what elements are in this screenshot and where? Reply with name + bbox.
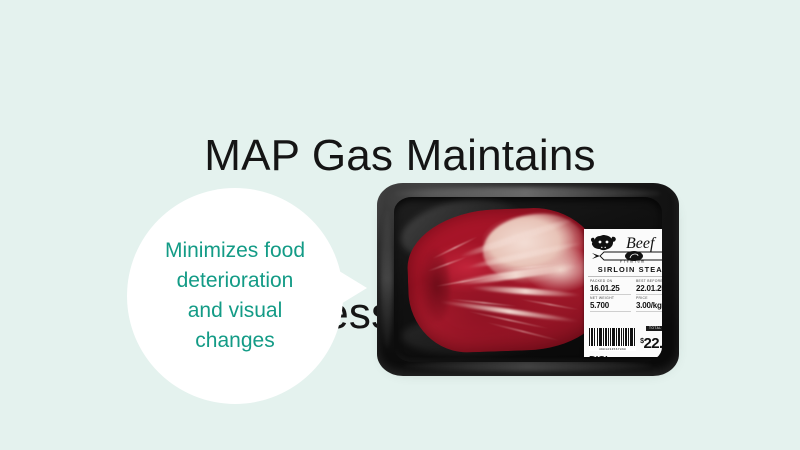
price-block: TOTAL PRICE $22.40	[638, 316, 662, 351]
total-price-value: $22.40	[638, 334, 662, 351]
scale-brand-logo: DIGI	[589, 355, 607, 357]
label-field: PACKED ON 16.01.25	[590, 279, 631, 295]
callout-line-4: changes	[195, 326, 274, 356]
callout-line-1: Minimizes food	[165, 236, 305, 266]
barcode-number: 4901234567890	[589, 348, 636, 351]
steak-cut	[406, 206, 607, 355]
label-field: NET WEIGHT 5.700	[590, 296, 631, 312]
field-value: 3.00/kg	[636, 301, 662, 312]
poster-canvas: MAP Gas Maintains Freshness and Color! M…	[0, 0, 800, 450]
headline-line-1: MAP Gas Maintains	[0, 130, 800, 182]
label-fields: PACKED ON 16.01.25 BEST BEFORE 22.01.25 …	[588, 279, 662, 312]
marble-line	[519, 298, 580, 311]
tray-well: Beef Premium SIRLOIN STEAK	[394, 197, 662, 362]
callout-line-2: deterioration	[177, 266, 294, 296]
label-divider	[588, 276, 662, 277]
label-field: BEST BEFORE 22.01.25	[636, 279, 662, 295]
label-footer: DIGI DIGI SUPERMARKET 13-20-12 KURIHARA …	[588, 354, 662, 357]
callout-line-3: and visual	[188, 296, 283, 326]
field-value: 16.01.25	[590, 284, 631, 295]
callout-text: Minimizes food deterioration and visual …	[127, 188, 343, 404]
tray-body: Beef Premium SIRLOIN STEAK	[377, 183, 679, 376]
brand-logo: Beef Premium	[588, 232, 662, 264]
steak-dark-edge	[406, 241, 452, 330]
barcode-icon: 4901234567890	[589, 328, 636, 351]
field-value: 5.700	[590, 301, 631, 312]
total-price-label: TOTAL PRICE	[646, 326, 662, 331]
svg-text:Beef: Beef	[626, 235, 657, 252]
cow-head-icon: Beef Premium	[590, 232, 663, 264]
brand-banner-text: Premium	[620, 258, 646, 263]
barcode-price-row: 4901234567890 TOTAL PRICE $22.40	[588, 316, 662, 351]
packaged-meat-tray: Beef Premium SIRLOIN STEAK	[377, 183, 679, 376]
callout-bubble: Minimizes food deterioration and visual …	[127, 188, 343, 404]
tray-rim-highlight-left	[381, 209, 393, 349]
price-amount: 22.40	[643, 335, 662, 352]
price-label: Beef Premium SIRLOIN STEAK	[584, 229, 662, 357]
label-field: PRICE 3.00/kg	[636, 296, 662, 312]
fat-streak	[470, 285, 580, 299]
product-name: SIRLOIN STEAK	[588, 265, 662, 274]
field-value: 22.01.25	[636, 284, 662, 295]
